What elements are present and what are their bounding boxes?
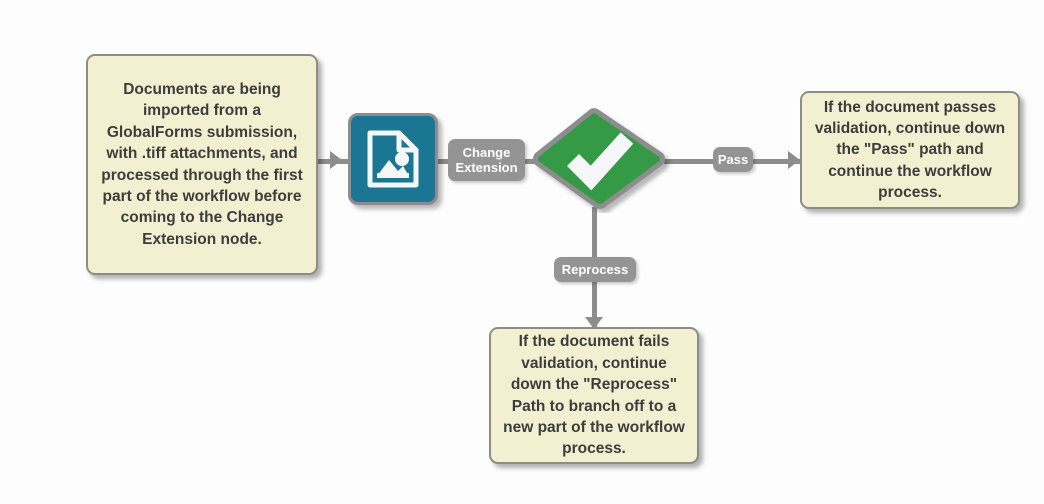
note-left[interactable]: Documents are being imported from a Glob… xyxy=(86,54,318,275)
note-bottom[interactable]: If the document fails validation, contin… xyxy=(489,327,699,464)
edge-label-pass[interactable]: Pass xyxy=(713,147,753,172)
edge-label-line2: Extension xyxy=(455,160,517,175)
note-left-text: Documents are being imported from a Glob… xyxy=(96,79,308,250)
edge-label-reprocess-text: Reprocess xyxy=(562,262,628,277)
edge-label-line1: Change xyxy=(463,145,511,160)
diagram-canvas: Documents are being imported from a Glob… xyxy=(0,0,1044,504)
node-change-extension[interactable] xyxy=(348,113,438,205)
connector-decision-to-reprocess-label xyxy=(592,207,597,259)
document-image-icon xyxy=(365,129,421,189)
arrowhead-right-pass-icon xyxy=(788,151,800,169)
node-decision[interactable] xyxy=(527,105,673,213)
edge-label-reprocess[interactable]: Reprocess xyxy=(554,257,636,282)
edge-label-pass-text: Pass xyxy=(718,152,748,167)
note-right-text: If the document passes validation, conti… xyxy=(812,97,1008,204)
edge-label-change-extension[interactable]: Change Extension xyxy=(448,139,525,181)
note-bottom-text: If the document fails validation, contin… xyxy=(499,331,689,459)
arrowhead-right-icon xyxy=(330,151,342,169)
note-right[interactable]: If the document passes validation, conti… xyxy=(800,91,1020,209)
edge-label-change-extension-text: Change Extension xyxy=(455,145,517,176)
